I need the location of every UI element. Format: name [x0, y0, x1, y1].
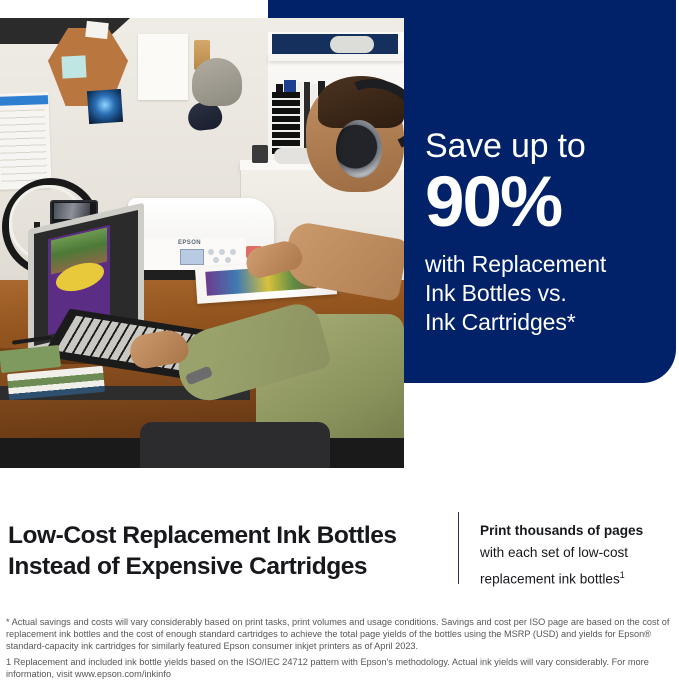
secondary-headline-line-3: replacement ink bottles: [480, 572, 620, 587]
printer-buttons: [208, 249, 242, 262]
small-speaker: [252, 145, 268, 163]
promo-copy: Save up to 90% with Replacement Ink Bott…: [425, 126, 665, 337]
fineprint-asterisk-text: * Actual savings and costs will vary con…: [6, 616, 672, 653]
headphone-earcup: [336, 120, 382, 178]
secondary-headline-line-1: Print thousands of pages: [480, 520, 670, 542]
main-headline-line-1: Low-Cost Replacement Ink Bottles: [8, 520, 448, 551]
secondary-headline-line-3-wrap: replacement ink bottles1: [480, 564, 670, 591]
photo-scene: EPSON: [0, 18, 404, 468]
promo-subtext: with Replacement Ink Bottles vs. Ink Car…: [425, 250, 665, 337]
promo-sub-line-1: with Replacement: [425, 250, 665, 279]
pinned-note: [85, 21, 109, 39]
promo-savings-percent: 90%: [425, 168, 665, 238]
secondary-headline: Print thousands of pages with each set o…: [480, 520, 670, 591]
fineprint-note-one: 1 Replacement and included ink bottle yi…: [6, 656, 672, 680]
game-controller-top: [330, 36, 374, 53]
headline-row: Low-Cost Replacement Ink Bottles Instead…: [0, 512, 679, 590]
fineprint-asterisk: * Actual savings and costs will vary con…: [6, 616, 672, 653]
office-chair: [140, 422, 330, 468]
gray-cap: [192, 58, 242, 106]
wall-schedule-lines: [0, 109, 47, 183]
lifestyle-photo: EPSON: [0, 18, 404, 468]
promo-line-1: Save up to: [425, 126, 665, 166]
shelf-board-upper: [268, 54, 404, 61]
vertical-divider: [458, 512, 459, 584]
sticky-note: [61, 55, 86, 78]
main-headline: Low-Cost Replacement Ink Bottles Instead…: [8, 520, 448, 582]
wall-paper-sheet: [138, 34, 188, 100]
printer-brand-label: EPSON: [178, 240, 201, 246]
main-headline-line-2: Instead of Expensive Cartridges: [8, 551, 448, 582]
promo-sub-line-2: Ink Bottles vs.: [425, 279, 665, 308]
fineprint-note-one-text: 1 Replacement and included ink bottle yi…: [6, 656, 672, 680]
wall-schedule-header: [0, 95, 48, 106]
printer-lcd-screen: [180, 249, 204, 265]
footnote-marker: 1: [620, 570, 625, 580]
promo-sub-line-3: Ink Cartridges*: [425, 308, 665, 337]
secondary-headline-line-2: with each set of low-cost: [480, 542, 670, 564]
hero-banner: EPSON: [0, 0, 679, 470]
concert-photo-print: [87, 89, 123, 124]
media-rack: [272, 92, 300, 154]
